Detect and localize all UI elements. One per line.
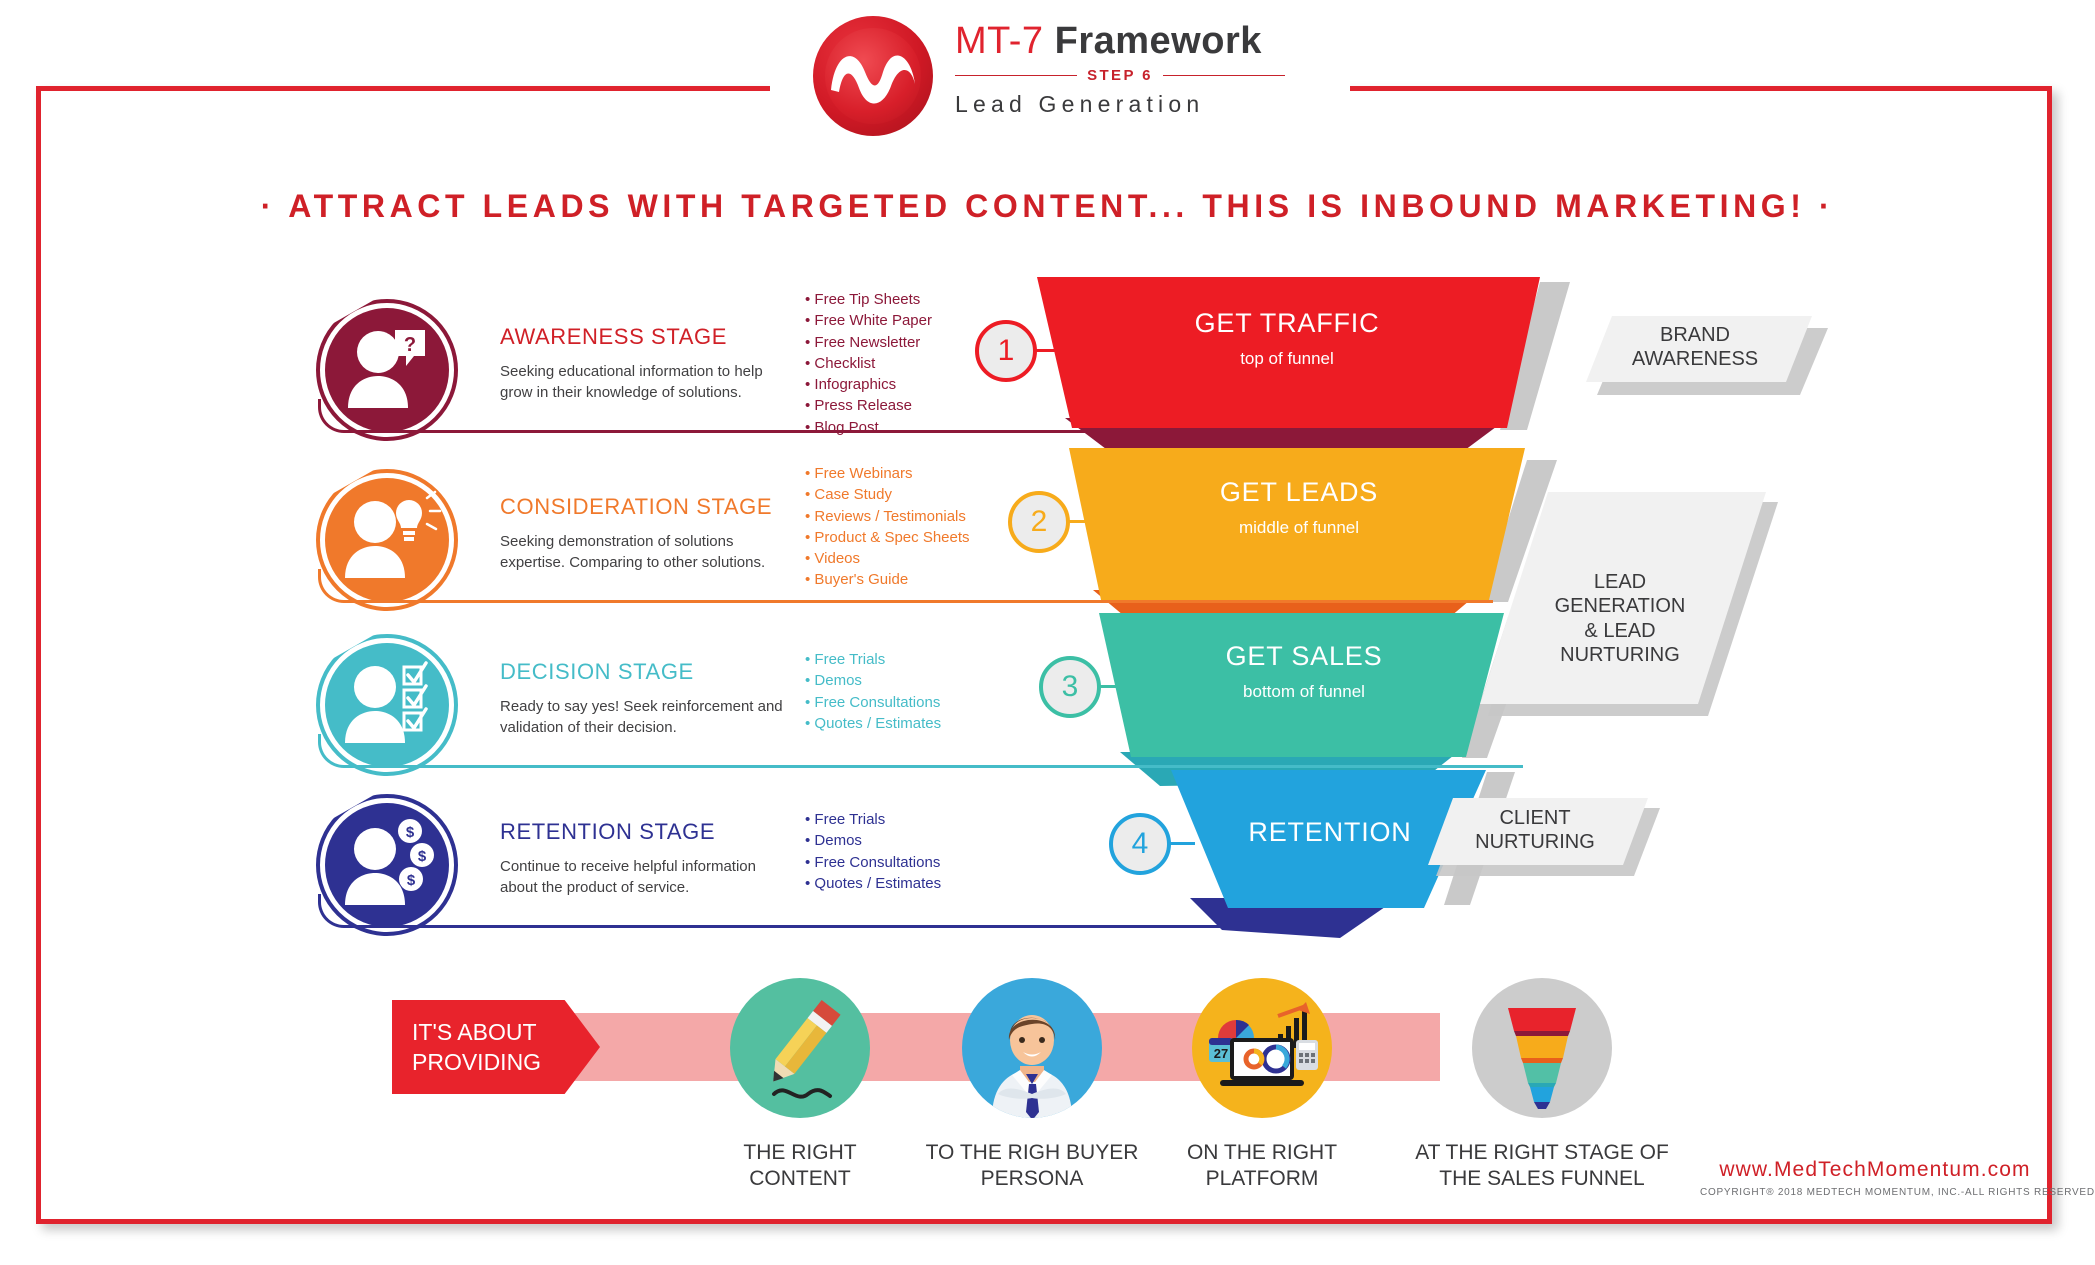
- brand-block: MT-7 Framework STEP 6 Lead Generation: [955, 22, 1315, 118]
- svg-text:$: $: [407, 872, 416, 889]
- arrow-text: IT'S ABOUT PROVIDING: [412, 1018, 582, 1078]
- analytics-dashboard-icon: 27: [1192, 978, 1332, 1118]
- svg-text:27: 27: [1214, 1046, 1228, 1061]
- header: MT-7 Framework STEP 6 Lead Generation: [0, 0, 2095, 150]
- bottom-caption-3: ON THE RIGHT PLATFORM: [1137, 1140, 1387, 1191]
- stage-description: Ready to say yes! Seek reinforcement and…: [500, 697, 790, 738]
- stage-connector-line: [363, 600, 1493, 603]
- rule-left: [955, 75, 1077, 76]
- panel-client-nurturing: CLIENT NURTURING: [1440, 806, 1630, 855]
- stage-content-list: Free Trials Demos Free Consultations Quo…: [805, 809, 1035, 894]
- pencil-icon: [730, 978, 870, 1118]
- bottom-caption-4: AT THE RIGHT STAGE OF THE SALES FUNNEL: [1397, 1140, 1687, 1191]
- mini-funnel-icon: [1472, 978, 1612, 1118]
- bottom-caption-2: TO THE RIGH BUYER PERSONA: [907, 1140, 1157, 1191]
- svg-text:$: $: [418, 848, 427, 865]
- stage-description: Seeking educational information to help …: [500, 362, 770, 403]
- badge-stem-2: [1068, 520, 1094, 523]
- medtech-wave-logo-icon: [813, 16, 933, 136]
- funnel-badge-3[interactable]: 3: [1039, 656, 1101, 718]
- rule-right: [1163, 75, 1285, 76]
- brand-prefix: MT-7: [955, 20, 1044, 62]
- stage-description: Continue to receive helpful information …: [500, 857, 790, 898]
- stage-title: DECISION STAGE: [500, 659, 694, 685]
- svg-text:$: $: [406, 824, 415, 841]
- header-subtitle: Lead Generation: [955, 91, 1315, 118]
- stage-title: AWARENESS STAGE: [500, 324, 727, 350]
- brand-name: Framework: [1055, 20, 1262, 62]
- footer-copyright: COPYRIGHT® 2018 MEDTECH MOMENTUM, INC.-A…: [1700, 1187, 2050, 1198]
- step-label: STEP 6: [1087, 67, 1153, 84]
- footer-url[interactable]: www.MedTechMomentum.com: [1700, 1158, 2050, 1182]
- stage-title: RETENTION STAGE: [500, 819, 715, 845]
- stage-connector-line: [363, 430, 1463, 433]
- badge-stem-4: [1169, 842, 1195, 845]
- svg-text:?: ?: [404, 334, 416, 356]
- stage-content-list: Free Tip Sheets Free White Paper Free Ne…: [805, 289, 1035, 438]
- stage-content-list: Free Trials Demos Free Consultations Quo…: [805, 649, 1035, 734]
- stage-content-list: Free Webinars Case Study Reviews / Testi…: [805, 463, 1035, 591]
- page-headline: · ATTRACT LEADS WITH TARGETED CONTENT...…: [0, 188, 2095, 225]
- funnel-badge-4[interactable]: 4: [1109, 813, 1171, 875]
- badge-stem-3: [1099, 685, 1125, 688]
- stage-connector-line: [363, 925, 1243, 928]
- stage-title: CONSIDERATION STAGE: [500, 494, 772, 520]
- panel-lead-generation: LEAD GENERATION & LEAD NURTURING: [1520, 570, 1720, 668]
- stage-connector-line: [363, 765, 1523, 768]
- panel-brand-awareness: BRAND AWARENESS: [1600, 323, 1790, 372]
- badge-stem-1: [1035, 349, 1061, 352]
- businessman-icon: [962, 978, 1102, 1118]
- bottom-caption-1: THE RIGHT CONTENT: [675, 1140, 925, 1191]
- stage-description: Seeking demonstration of solutions exper…: [500, 532, 790, 573]
